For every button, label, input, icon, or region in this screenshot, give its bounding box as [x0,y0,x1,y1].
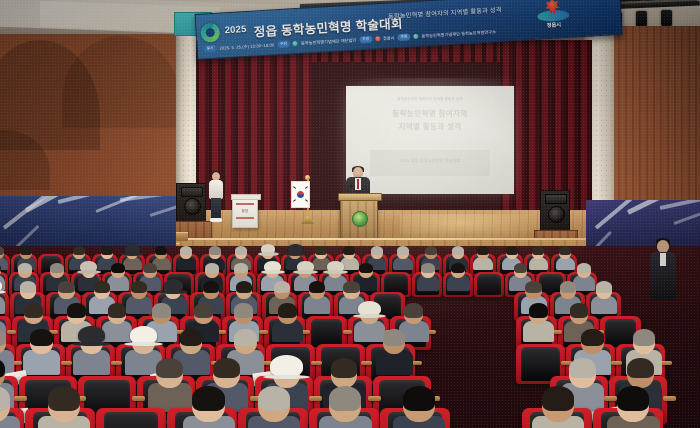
taeguk-symbol [297,191,304,198]
hair [542,386,574,410]
audience-seating-area [0,246,700,428]
seat-armrest [553,330,562,333]
banner-year: 2025 [224,24,247,36]
banner-org-chip: 후원 [397,33,410,41]
seat-armrest [311,361,322,365]
banner-org-dot-icon [375,36,380,41]
hair [529,303,548,317]
dress-shirt [660,253,666,266]
hat [125,244,140,254]
hair [315,246,327,255]
audience-member [80,330,103,370]
hat [78,326,105,344]
audience-member [126,247,138,268]
hair [236,281,252,293]
hat [327,261,344,272]
seat-armrest [343,330,352,333]
shoes [210,218,222,222]
seat-armrest [132,396,145,401]
audience-member [108,305,127,339]
audience-member [180,247,192,268]
audience-member [360,305,379,339]
audience-member [451,264,465,289]
seat-armrest [663,396,676,401]
hair [101,246,113,255]
welcome-placard: 환영 [232,196,258,228]
city-logo-name: 정읍시 [537,21,571,30]
slide-title-line-2: 지역별 활동과 성격 [398,122,461,132]
hair [451,263,465,273]
seat-armrest [309,396,322,401]
hair [383,329,406,346]
seat-armrest [611,361,622,365]
standing-attendee-right-aisle [648,236,678,314]
hair [50,263,64,273]
seat-armrest [604,396,617,401]
hat [80,261,97,272]
hair [194,303,213,317]
hair [131,281,147,293]
hair [525,281,541,293]
audience-member [258,388,290,428]
hat [270,355,303,377]
audience-seat[interactable] [96,408,166,428]
podium-top [338,193,382,201]
seat-armrest [259,330,268,333]
hat [264,261,281,272]
hair [30,329,53,346]
hair [58,281,74,293]
hair [633,329,656,346]
podium [340,196,378,242]
hair [343,246,355,255]
audience-member [532,247,544,268]
hair [205,263,219,273]
flag-cloth [291,181,310,208]
placard-text: 환영 [233,208,257,213]
hair [18,263,32,273]
torso [209,180,223,199]
hat [130,326,157,344]
banner-org-dot-icon [293,41,298,46]
seat-armrest [7,330,16,333]
audience-member [48,388,80,428]
hair [152,303,171,317]
hair [234,303,253,317]
seat-back [104,412,159,428]
hair [331,358,358,378]
hair [67,303,86,317]
trigram [293,199,296,202]
seat-back [311,319,343,348]
hair [309,281,325,293]
hair [596,281,612,293]
audience-member [329,388,361,428]
hair [258,386,290,410]
seat-armrest [661,361,672,365]
hair [180,246,192,255]
flag-base [301,216,314,224]
audience-member [577,264,591,289]
banner-org-dot-icon [413,34,418,39]
trigram [305,199,308,202]
hair [514,263,528,273]
hair [329,386,361,410]
audience-member [343,247,355,268]
necktie [357,179,359,189]
stage-lamp [661,10,672,27]
hair [156,358,183,378]
wall-panel-arc [62,36,180,128]
hair [111,263,125,273]
audience-member [617,388,649,428]
hair [0,386,10,410]
audience-member [542,388,574,428]
korean-national-flag-taegukgi [291,178,313,226]
trigram [305,186,308,189]
audience-member [0,388,10,428]
hair [404,303,423,317]
seat-armrest [111,361,122,365]
audience-member [131,282,147,311]
seat-armrest [14,396,27,401]
banner-org-chip: 주관 [359,36,372,44]
audience-member [30,330,53,370]
hair [506,246,518,255]
audience-member [132,330,155,370]
hair [108,303,127,317]
hair [213,358,240,378]
seat-armrest [61,361,72,365]
hair [278,303,297,317]
hair [143,263,157,273]
audience-member [559,247,571,268]
pa-speaker-right [540,190,570,232]
hair [274,281,290,293]
speaker-horn [545,194,567,204]
hair [559,246,571,255]
audience-member [383,330,406,370]
hair [203,281,219,293]
audience-member [403,388,435,428]
audience-member [309,282,325,311]
pa-speaker-left [176,183,206,223]
audience-member [421,264,435,289]
audience-seat[interactable] [474,272,504,297]
staff-member-stage-left [208,172,224,224]
banner-org-label: 정읍시 [383,35,395,42]
audience-member [596,282,612,311]
jeongeup-city-logo: 정읍시 [535,0,571,33]
hair [234,263,248,273]
hair [20,281,36,293]
seat-armrest [361,361,372,365]
projection-screen: 동학농민혁명 참여자의 지역별 활동과 성격 동학농민혁명 참여자의 지역별 활… [346,86,514,194]
hair [48,386,80,410]
speaker-cone [548,206,565,223]
hair [421,263,435,273]
seat-back [477,274,500,295]
audience-member [477,247,489,268]
audience-member [111,264,125,289]
hair [617,386,649,410]
hair [627,358,654,378]
hair [359,263,373,273]
audience-member [155,247,167,268]
hair [452,246,464,255]
audience-member [180,330,203,370]
audience-member [315,247,327,268]
slide-title-line-1: 동학농민혁명 참여자의 [392,109,467,119]
audience-member [278,305,297,339]
seat-armrest [368,396,381,401]
hair [343,281,359,293]
auditorium-conference-photo: 동학농민혁명 참여자의 지역별 활동과 성격 동학농민혁명 참여자의 지역별 활… [0,0,700,428]
hair [180,329,203,346]
hair [235,246,247,255]
audience-member [359,264,373,289]
hair [20,246,32,255]
hat [288,244,303,254]
wood-wall-left [0,34,196,204]
jeongeup-city-emblem [352,211,368,227]
audience-member [156,360,183,408]
placard-frame-top [231,194,261,200]
hat [164,279,184,292]
trigram [293,186,296,189]
hair [570,303,589,317]
hair [0,246,4,255]
placard-rule [236,217,254,219]
placard-rule [236,203,254,205]
banner-org-chip: 주최 [277,40,290,48]
hair [73,246,85,255]
audience-member [192,388,224,428]
hair [209,246,221,255]
audience-member [529,305,548,339]
audience-member [404,305,423,339]
hat [358,301,381,316]
speaker-horn [181,187,203,197]
hair [192,386,224,410]
slide-subtitle: 2025 정읍 동학농민혁명 학술대회 [346,158,514,164]
hair [532,246,544,255]
hair [569,358,596,378]
legs [211,198,221,219]
banner-org-chip: 일시 [204,45,217,53]
hat [261,244,276,254]
hair [155,246,167,255]
hair [371,246,383,255]
hair [397,246,409,255]
hat [297,261,314,272]
hair [477,246,489,255]
hair [403,386,435,410]
speaker-cone [184,198,201,215]
hair [581,329,604,346]
hair [577,263,591,273]
hair [234,329,257,346]
hair [560,281,576,293]
audience-member [328,264,342,289]
slide-eyebrow: 동학농민혁명 참여자의 지역별 활동과 성격 [397,97,462,101]
audience-member [397,247,409,268]
hair [425,246,437,255]
hair [24,303,43,317]
hair [94,281,110,293]
